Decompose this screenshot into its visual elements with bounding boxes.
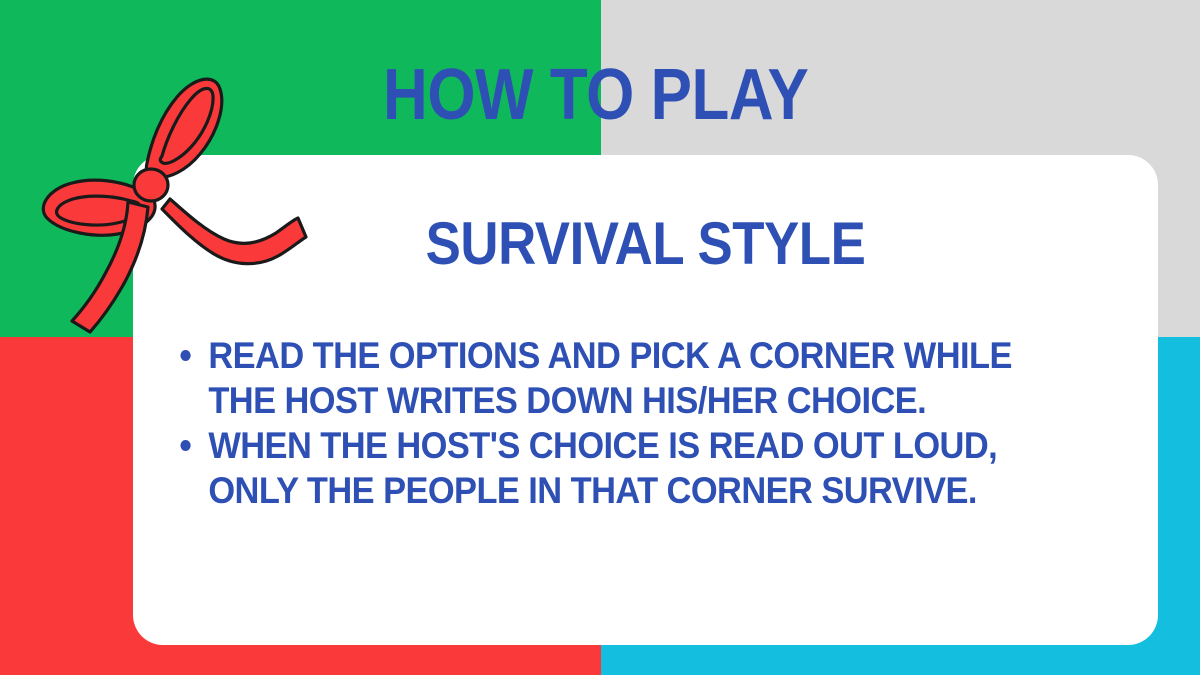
list-item: READ THE OPTIONS AND PICK A CORNER WHILE… — [173, 333, 1057, 423]
list-item: WHEN THE HOST'S CHOICE IS READ OUT LOUD,… — [173, 423, 1057, 513]
list-item-text: WHEN THE HOST'S CHOICE IS READ OUT LOUD,… — [208, 425, 997, 511]
list-item-text: READ THE OPTIONS AND PICK A CORNER WHILE… — [208, 335, 1012, 421]
slide-title: HOW TO PLAY — [84, 58, 1116, 132]
instructions-list: READ THE OPTIONS AND PICK A CORNER WHILE… — [173, 333, 1123, 513]
content-card: SURVIVAL STYLE READ THE OPTIONS AND PICK… — [133, 155, 1158, 645]
bullet-dot-icon — [180, 440, 190, 451]
slide-canvas: HOW TO PLAY SURVIVAL STYLE READ THE OPTI… — [0, 0, 1200, 675]
card-heading: SURVIVAL STYLE — [195, 213, 1097, 275]
bullet-dot-icon — [180, 350, 190, 361]
